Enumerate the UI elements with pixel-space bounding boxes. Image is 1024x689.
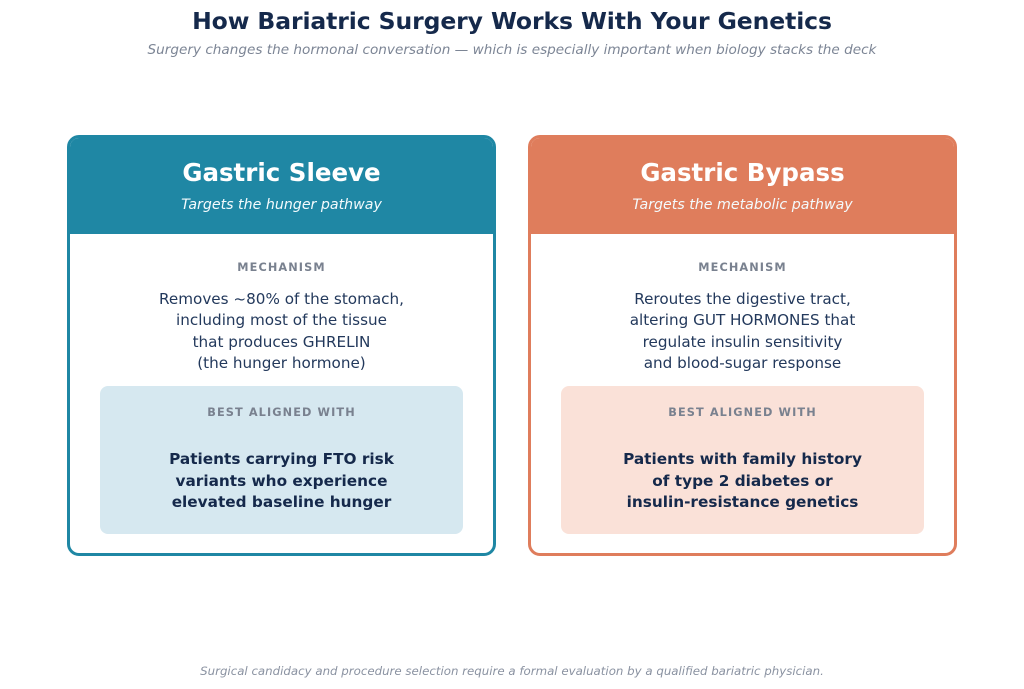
page-header: How Bariatric Surgery Works With Your Ge…	[0, 0, 1024, 60]
aligned-panel-gastric-bypass: BEST ALIGNED WITH Patients with family h…	[561, 386, 924, 534]
card-subtitle-gastric-bypass: Targets the metabolic pathway	[545, 195, 940, 215]
mechanism-label-gastric-bypass: MECHANISM	[531, 260, 954, 276]
aligned-label-gastric-sleeve: BEST ALIGNED WITH	[116, 405, 447, 421]
card-title-gastric-bypass: Gastric Bypass	[545, 158, 940, 188]
mechanism-label-gastric-sleeve: MECHANISM	[70, 260, 493, 276]
card-title-gastric-sleeve: Gastric Sleeve	[84, 158, 479, 188]
card-gastric-sleeve: Gastric Sleeve Targets the hunger pathwa…	[67, 135, 496, 556]
aligned-text-gastric-sleeve: Patients carrying FTO risk variants who …	[116, 421, 447, 514]
comparison-cards-row: Gastric Sleeve Targets the hunger pathwa…	[67, 135, 957, 556]
page-footer: Surgical candidacy and procedure selecti…	[0, 662, 1024, 680]
card-header-gastric-bypass: Gastric Bypass Targets the metabolic pat…	[531, 138, 954, 234]
aligned-text-gastric-bypass: Patients with family history of type 2 d…	[577, 421, 908, 514]
card-body-gastric-sleeve: MECHANISM Removes ~80% of the stomach, i…	[70, 234, 493, 553]
mechanism-text-gastric-bypass: Reroutes the digestive tract, altering G…	[531, 289, 954, 374]
aligned-panel-gastric-sleeve: BEST ALIGNED WITH Patients carrying FTO …	[100, 386, 463, 534]
card-header-gastric-sleeve: Gastric Sleeve Targets the hunger pathwa…	[70, 138, 493, 234]
page-subtitle: Surgery changes the hormonal conversatio…	[0, 40, 1024, 60]
footer-disclaimer: Surgical candidacy and procedure selecti…	[0, 662, 1024, 680]
page-title: How Bariatric Surgery Works With Your Ge…	[0, 6, 1024, 36]
mechanism-text-gastric-sleeve: Removes ~80% of the stomach, including m…	[70, 289, 493, 374]
aligned-label-gastric-bypass: BEST ALIGNED WITH	[577, 405, 908, 421]
card-gastric-bypass: Gastric Bypass Targets the metabolic pat…	[528, 135, 957, 556]
card-body-gastric-bypass: MECHANISM Reroutes the digestive tract, …	[531, 234, 954, 553]
card-subtitle-gastric-sleeve: Targets the hunger pathway	[84, 195, 479, 215]
infographic-page: How Bariatric Surgery Works With Your Ge…	[0, 0, 1024, 689]
